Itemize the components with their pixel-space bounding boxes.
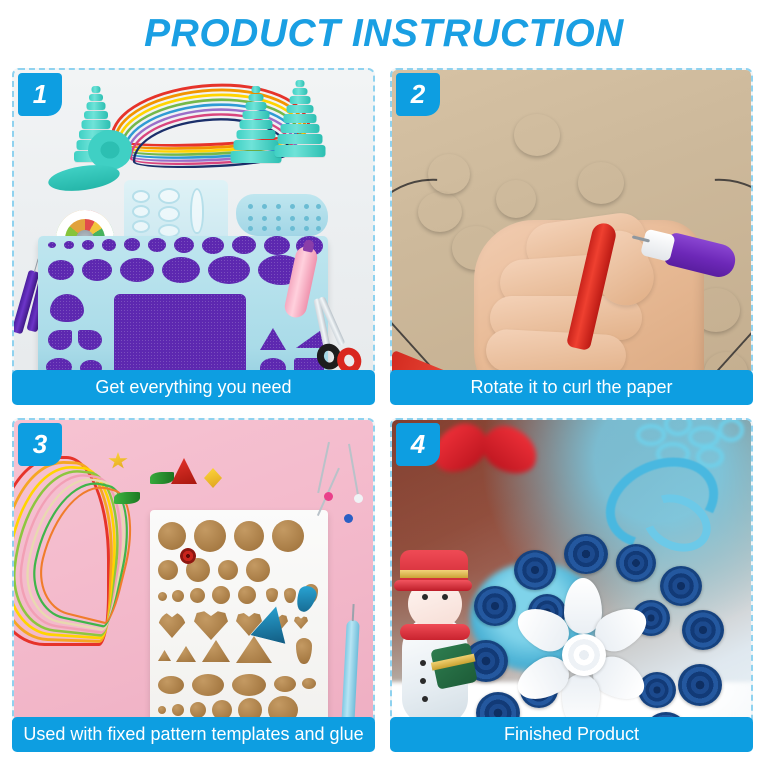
step-badge-3: 3: [18, 423, 62, 466]
paper-shape-green-leaf: [150, 472, 174, 484]
paper-rose-coil: [514, 114, 560, 156]
step-panel-4: 4: [390, 418, 753, 748]
snowman-gift-box: [430, 642, 477, 689]
step-badge-1: 1: [18, 73, 62, 116]
step-3-photo: [14, 420, 373, 746]
snowman-hat-brim: [394, 580, 472, 591]
quilled-snowflake-ornament: [468, 542, 718, 746]
paper-rose-coil: [496, 180, 536, 218]
snowman-figurine: [396, 550, 478, 728]
step-1-photo: [14, 70, 373, 396]
step-panel-2: 2: [390, 68, 753, 398]
step-caption-3: Used with fixed pattern templates and gl…: [12, 717, 375, 752]
cone-tower-middle: [234, 86, 278, 168]
pattern-template-board: [150, 510, 328, 746]
infographic-page: PRODUCT INSTRUCTION: [0, 0, 768, 768]
step-caption-2: Rotate it to curl the paper: [390, 370, 753, 405]
paper-rose-coil: [428, 154, 470, 194]
snowman-scarf: [400, 624, 470, 640]
step-caption-4: Finished Product: [390, 717, 753, 752]
step-panel-3: 3: [12, 418, 375, 748]
red-ribbon-bow: [432, 426, 552, 488]
step-panel-1: 1: [12, 68, 375, 398]
paper-rose-coil: [578, 162, 624, 204]
paper-shape-red-coil: [180, 548, 196, 564]
step-2-photo: [392, 70, 751, 396]
tool-ferrule: [640, 228, 676, 261]
paper-shape-green-leaf: [114, 492, 140, 504]
step-4-photo: [392, 420, 751, 746]
step-caption-1: Get everything you need: [12, 370, 375, 405]
pin-set: [314, 442, 373, 512]
peg-board-tool: [236, 194, 328, 236]
paper-rose-coil: [418, 192, 462, 232]
page-title: PRODUCT INSTRUCTION: [0, 8, 768, 60]
step-badge-2: 2: [396, 73, 440, 116]
cone-tower-right: [278, 80, 322, 164]
snowman-hat-band: [400, 570, 468, 578]
step-badge-4: 4: [396, 423, 440, 466]
dome-mold-tray: [124, 180, 228, 242]
